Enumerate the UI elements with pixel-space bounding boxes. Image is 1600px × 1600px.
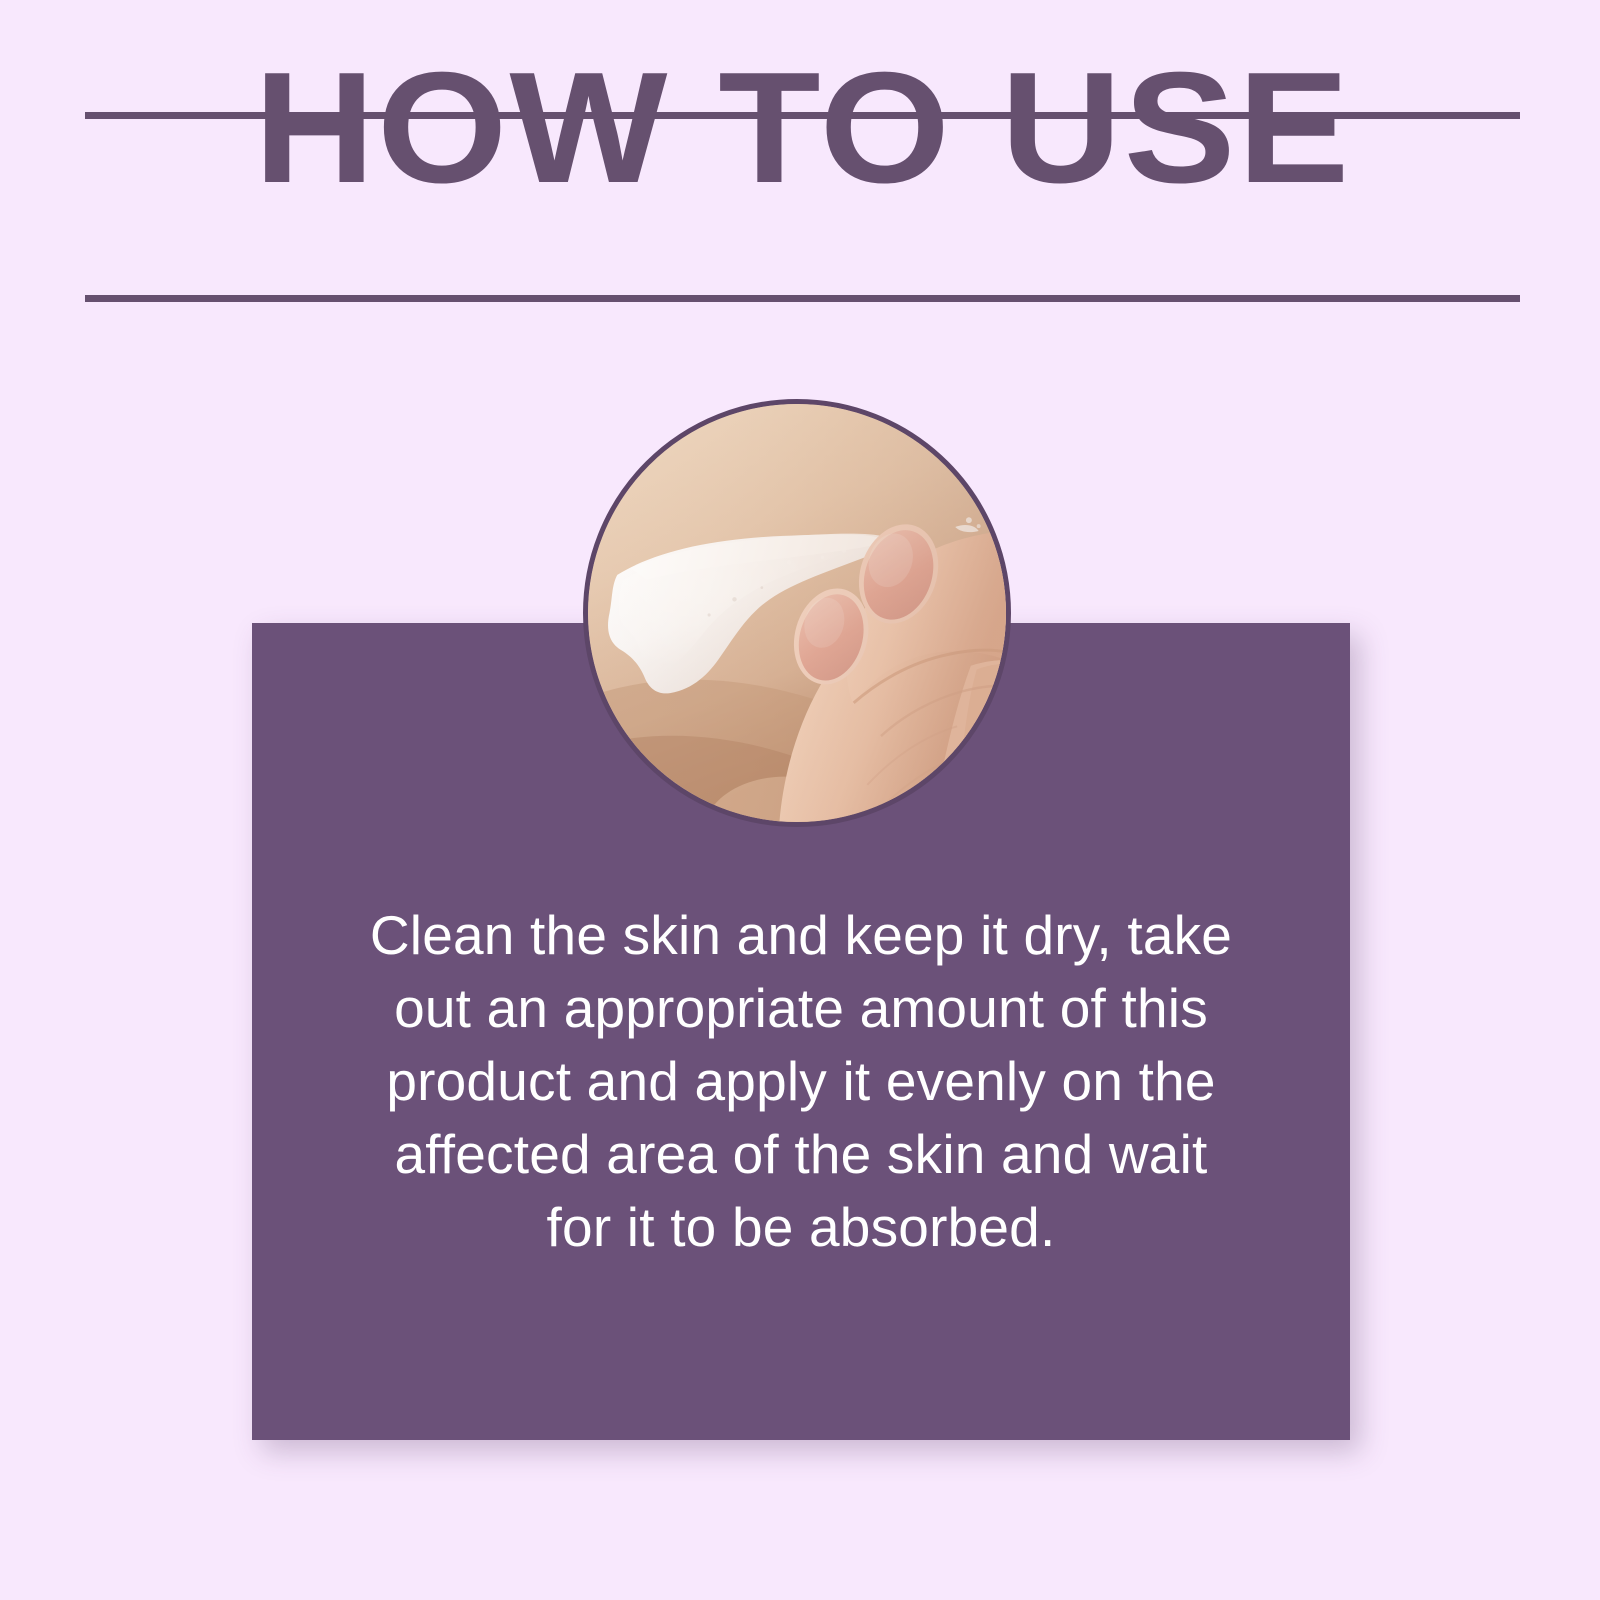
page-title-text: HOW TO USE [254, 49, 1351, 207]
page-header: HOW TO USE [85, 112, 1520, 302]
cream-application-photo [583, 399, 1011, 827]
page-title: HOW TO USE [85, 128, 1520, 286]
instruction-text: Clean the skin and keep it dry, take out… [342, 899, 1260, 1264]
header-rule-bottom [85, 295, 1520, 302]
photo-image [588, 404, 1006, 822]
